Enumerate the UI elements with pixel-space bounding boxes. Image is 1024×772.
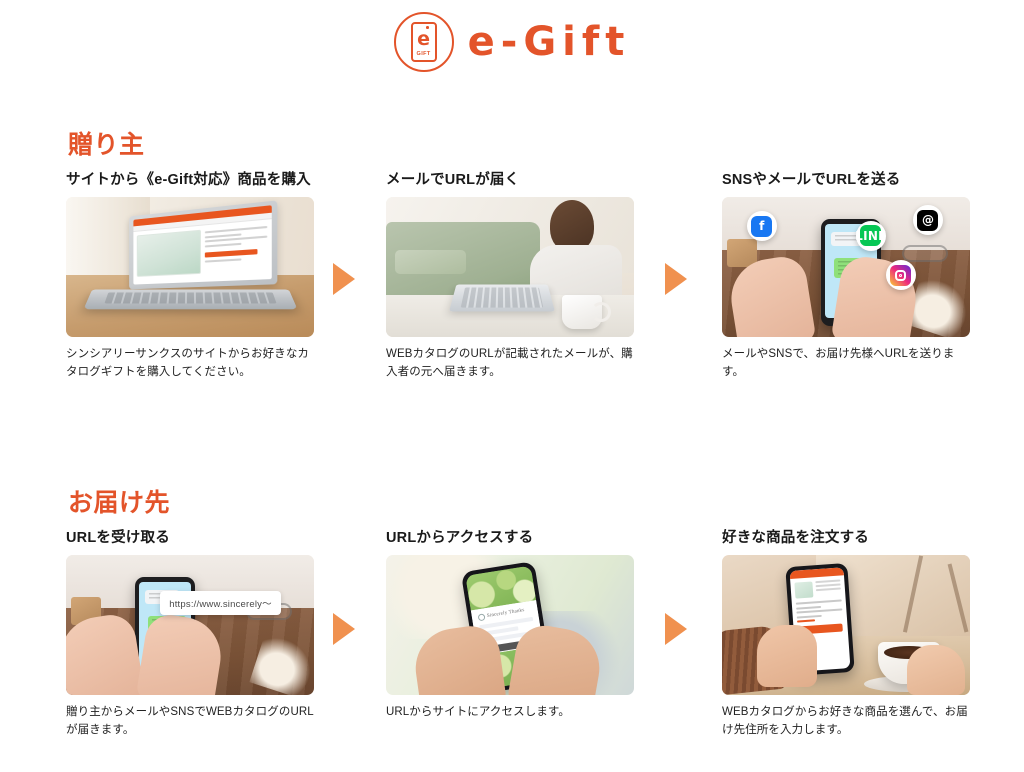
step-card-receive-url: URLを受け取る https://www.sincerely〜	[66, 526, 314, 740]
brand-mark-icon	[478, 613, 486, 621]
step-arrow-icon	[665, 613, 687, 645]
step-caption: URLからサイトにアクセスします。	[386, 704, 636, 722]
step-image-sns: f LINE @	[722, 197, 970, 337]
step-title: URLからアクセスする	[386, 526, 634, 547]
step-arrow-icon	[665, 263, 687, 295]
logo-letter: e	[417, 30, 430, 49]
step-card-order-product: 好きな商品を注文する	[722, 526, 970, 740]
step-image-sofa	[386, 197, 634, 337]
step-card-send-sns: SNSやメールでURLを送る f	[722, 168, 970, 382]
step-caption: 贈り主からメールやSNSでWEBカタログのURLが届きます。	[66, 704, 316, 740]
section-title-recipient: お届け先	[68, 490, 170, 518]
url-bubble: https://www.sincerely〜	[160, 591, 281, 615]
logo-sub-label: GIFT	[417, 51, 431, 57]
brand-header: e GIFT e-Gift	[0, 12, 1024, 72]
step-caption: メールやSNSで、お届け先様へURLを送ります。	[722, 346, 972, 382]
step-image-laptop	[66, 197, 314, 337]
facebook-glyph: f	[751, 216, 772, 237]
instagram-icon	[886, 260, 916, 290]
step-card-purchase: サイトから《e-Gift対応》商品を購入	[66, 168, 314, 382]
step-title: 好きな商品を注文する	[722, 526, 970, 547]
step-caption: WEBカタログのURLが記載されたメールが、購入者の元へ届きます。	[386, 346, 636, 382]
line-icon: LINE	[856, 221, 886, 251]
threads-glyph: @	[917, 210, 938, 231]
step-arrow-icon	[333, 263, 355, 295]
step-image-access: Sincerely Thanks	[386, 555, 634, 695]
step-caption: シンシアリーサンクスのサイトからお好きなカタログギフトを購入してください。	[66, 346, 316, 382]
page-title: e-Gift	[468, 22, 631, 62]
egift-flow-page: e GIFT e-Gift 贈り主 サイトから《e-Gift対応》商品を購入	[0, 0, 1024, 772]
recipient-steps: URLを受け取る https://www.sincerely〜	[0, 526, 1024, 772]
step-title: SNSやメールでURLを送る	[722, 168, 970, 189]
line-glyph: LINE	[860, 225, 881, 246]
step-title: URLを受け取る	[66, 526, 314, 547]
step-caption: WEBカタログからお好きな商品を選んで、お届け先住所を入力します。	[722, 704, 972, 740]
facebook-icon: f	[747, 211, 777, 241]
step-image-order	[722, 555, 970, 695]
step-arrow-icon	[333, 613, 355, 645]
sender-steps: サイトから《e-Gift対応》商品を購入	[0, 168, 1024, 468]
step-card-access-url: URLからアクセスする Sincerely Thanks	[386, 526, 634, 722]
step-title: メールでURLが届く	[386, 168, 634, 189]
step-title: サイトから《e-Gift対応》商品を購入	[66, 168, 314, 189]
step-card-email: メールでURLが届く WEBカタログのURLが記載されたメールが、購入者の元へ届…	[386, 168, 634, 382]
section-title-sender: 贈り主	[68, 132, 145, 160]
step-image-receive-url: https://www.sincerely〜	[66, 555, 314, 695]
e-gift-phone-icon: e GIFT	[394, 12, 454, 72]
